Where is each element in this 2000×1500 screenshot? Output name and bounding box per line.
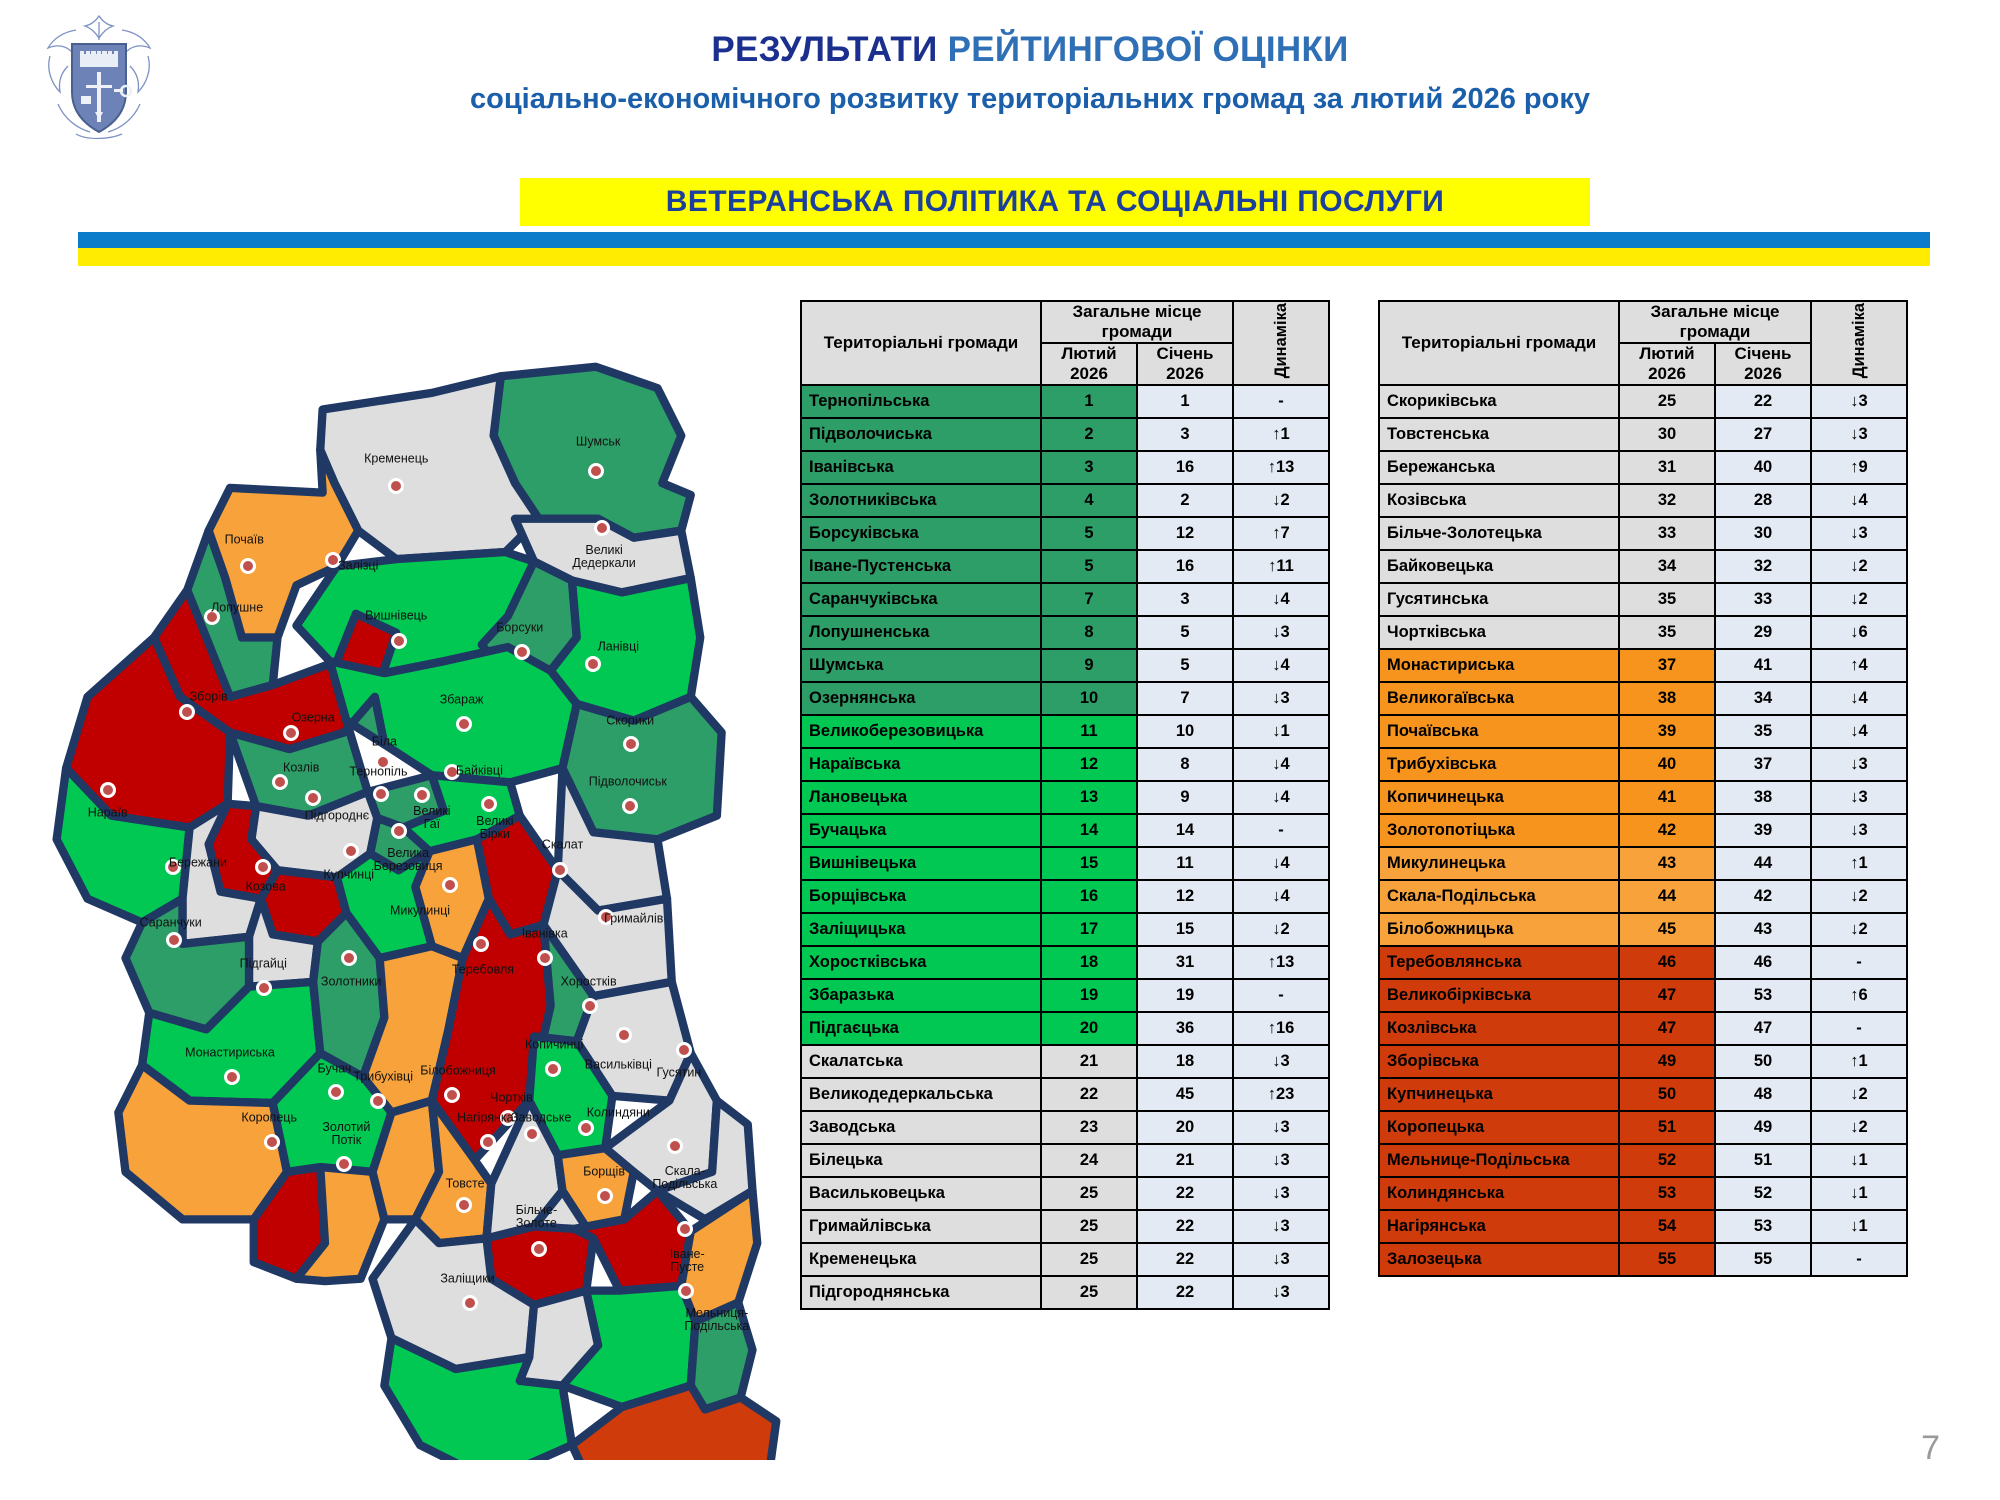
community-name: Микулинецька — [1379, 847, 1619, 880]
city-marker-dot — [264, 1134, 280, 1150]
rank-dynamics: ↓4 — [1811, 682, 1907, 715]
rank-dynamics: ↑1 — [1811, 1045, 1907, 1078]
rank-february: 53 — [1619, 1177, 1715, 1210]
city-marker-dot — [283, 725, 299, 741]
city-marker-dot — [524, 1126, 540, 1142]
rank-dynamics: ↓3 — [1233, 1276, 1329, 1309]
table-row: Заводська2320↓3 — [801, 1111, 1329, 1144]
community-name: Іванівська — [801, 451, 1041, 484]
table-row: Кременецька2522↓3 — [801, 1243, 1329, 1276]
page-number: 7 — [1921, 1429, 1940, 1468]
table-row: Васильковецька2522↓3 — [801, 1177, 1329, 1210]
rank-dynamics: ↓3 — [1233, 1144, 1329, 1177]
header-communities: Територіальні громади — [1379, 301, 1619, 385]
community-name: Мельнице-Подільська — [1379, 1144, 1619, 1177]
rank-february: 1 — [1041, 385, 1137, 418]
rank-january: 47 — [1715, 1012, 1811, 1045]
city-marker-dot — [373, 786, 389, 802]
table-row: Підгаєцька2036↑16 — [801, 1012, 1329, 1045]
city-marker-dot — [514, 644, 530, 660]
community-name: Копичинецька — [1379, 781, 1619, 814]
header-february: Лютий2026 — [1619, 343, 1715, 385]
community-name: Байковецька — [1379, 550, 1619, 583]
city-marker-dot — [444, 1087, 460, 1103]
rank-february: 22 — [1041, 1078, 1137, 1111]
rank-january: 49 — [1715, 1111, 1811, 1144]
rank-february: 41 — [1619, 781, 1715, 814]
rank-february: 24 — [1041, 1144, 1137, 1177]
city-marker-dot — [456, 1197, 472, 1213]
rank-february: 47 — [1619, 979, 1715, 1012]
city-marker-dot — [578, 1120, 594, 1136]
city-marker-dot — [622, 798, 638, 814]
rank-february: 49 — [1619, 1045, 1715, 1078]
community-name: Борсуківська — [801, 517, 1041, 550]
community-name: Монастириська — [1379, 649, 1619, 682]
city-marker-dot — [370, 1093, 386, 1109]
rank-january: 16 — [1137, 550, 1233, 583]
community-name: Заліщицька — [801, 913, 1041, 946]
community-name: Лопушненська — [801, 616, 1041, 649]
community-name: Підгороднянська — [801, 1276, 1041, 1309]
header-overall-place: Загальне місце громади — [1619, 301, 1811, 343]
rank-february: 43 — [1619, 847, 1715, 880]
rank-dynamics: ↓3 — [1233, 1045, 1329, 1078]
table-row: Золотопотіцька4239↓3 — [1379, 814, 1907, 847]
rank-february: 5 — [1041, 517, 1137, 550]
rank-january: 32 — [1715, 550, 1811, 583]
community-name: Купчинецька — [1379, 1078, 1619, 1111]
rank-dynamics: - — [1233, 385, 1329, 418]
rank-january: 22 — [1137, 1177, 1233, 1210]
city-marker-dot — [179, 704, 195, 720]
rank-dynamics: ↓4 — [1233, 649, 1329, 682]
rank-dynamics: ↓2 — [1811, 583, 1907, 616]
rank-february: 25 — [1619, 385, 1715, 418]
table-row: Товстенська3027↓3 — [1379, 418, 1907, 451]
community-name: Великобірківська — [1379, 979, 1619, 1012]
rank-february: 20 — [1041, 1012, 1137, 1045]
community-name: Бережанська — [1379, 451, 1619, 484]
table-row: Підволочиська23↑1 — [801, 418, 1329, 451]
table-row: Нараївська128↓4 — [801, 748, 1329, 781]
city-marker-dot — [375, 754, 391, 770]
rank-january: 36 — [1137, 1012, 1233, 1045]
table-row: Микулинецька4344↑1 — [1379, 847, 1907, 880]
rank-january: 53 — [1715, 979, 1811, 1012]
table-row: Білобожницька4543↓2 — [1379, 913, 1907, 946]
community-name: Саранчуківська — [801, 583, 1041, 616]
city-marker-dot — [305, 790, 321, 806]
community-name: Тернопільська — [801, 385, 1041, 418]
city-marker-dot — [667, 1138, 683, 1154]
city-marker-dot — [341, 950, 357, 966]
rank-dynamics: ↓3 — [1233, 616, 1329, 649]
rank-february: 2 — [1041, 418, 1137, 451]
rank-january: 30 — [1715, 517, 1811, 550]
rank-dynamics: ↑1 — [1811, 847, 1907, 880]
city-marker-dot — [256, 980, 272, 996]
rank-dynamics: ↓3 — [1233, 1111, 1329, 1144]
table-row: Тернопільська11- — [801, 385, 1329, 418]
rank-january: 53 — [1715, 1210, 1811, 1243]
city-marker-dot — [444, 764, 460, 780]
rank-february: 8 — [1041, 616, 1137, 649]
table-row: Коропецька5149↓2 — [1379, 1111, 1907, 1144]
rank-february: 31 — [1619, 451, 1715, 484]
rank-january: 48 — [1715, 1078, 1811, 1111]
rank-february: 4 — [1041, 484, 1137, 517]
rank-january: 52 — [1715, 1177, 1811, 1210]
table-row: Шумська95↓4 — [801, 649, 1329, 682]
rank-january: 41 — [1715, 649, 1811, 682]
coat-of-arms-icon — [36, 12, 162, 144]
table-row: Саранчуківська73↓4 — [801, 583, 1329, 616]
table-row: Залозецька5555- — [1379, 1243, 1907, 1276]
rank-dynamics: ↓3 — [1233, 1210, 1329, 1243]
rank-dynamics: ↓2 — [1811, 1111, 1907, 1144]
rank-dynamics: ↓2 — [1811, 550, 1907, 583]
page-title: РЕЗУЛЬТАТИ РЕЙТИНГОВОЇ ОЦІНКИ соціально-… — [330, 30, 1730, 117]
community-name: Великоберезовицька — [801, 715, 1041, 748]
ternopil-oblast-map[interactable]: ШумськКременецьВеликі ДедеркалиПочаївЛоп… — [40, 290, 800, 1460]
rank-february: 14 — [1041, 814, 1137, 847]
table-row: Озернянська107↓3 — [801, 682, 1329, 715]
city-marker-dot — [456, 716, 472, 732]
community-name: Колиндянська — [1379, 1177, 1619, 1210]
rank-dynamics: ↓3 — [1233, 1177, 1329, 1210]
city-marker-dot — [343, 843, 359, 859]
rank-february: 45 — [1619, 913, 1715, 946]
header-communities: Територіальні громади — [801, 301, 1041, 385]
title-word-results: РЕЗУЛЬТАТИ — [711, 30, 937, 69]
rank-february: 51 — [1619, 1111, 1715, 1144]
rank-january: 46 — [1715, 946, 1811, 979]
community-name: Шумська — [801, 649, 1041, 682]
table-row: Скориківська2522↓3 — [1379, 385, 1907, 418]
rank-february: 54 — [1619, 1210, 1715, 1243]
table-row: Зборівська4950↑1 — [1379, 1045, 1907, 1078]
rank-february: 11 — [1041, 715, 1137, 748]
city-marker-dot — [500, 1110, 516, 1126]
flag-stripe-blue — [78, 232, 1930, 248]
table-row: Вишнівецька1511↓4 — [801, 847, 1329, 880]
community-name: Залозецька — [1379, 1243, 1619, 1276]
community-name: Великодедеркальська — [801, 1078, 1041, 1111]
community-name: Підволочиська — [801, 418, 1041, 451]
rank-january: 45 — [1137, 1078, 1233, 1111]
community-name: Підгаєцька — [801, 1012, 1041, 1045]
city-marker-dot — [582, 998, 598, 1014]
rank-february: 7 — [1041, 583, 1137, 616]
rank-dynamics: ↓1 — [1233, 715, 1329, 748]
rank-dynamics: - — [1811, 1012, 1907, 1045]
rank-dynamics: ↑16 — [1233, 1012, 1329, 1045]
rank-february: 38 — [1619, 682, 1715, 715]
community-name: Великогаївська — [1379, 682, 1619, 715]
rank-february: 12 — [1041, 748, 1137, 781]
table-row: Борщівська1612↓4 — [801, 880, 1329, 913]
rank-february: 23 — [1041, 1111, 1137, 1144]
rank-january: 51 — [1715, 1144, 1811, 1177]
community-name: Озернянська — [801, 682, 1041, 715]
rank-january: 18 — [1137, 1045, 1233, 1078]
rank-dynamics: ↑13 — [1233, 451, 1329, 484]
rank-january: 11 — [1137, 847, 1233, 880]
table-row: Великогаївська3834↓4 — [1379, 682, 1907, 715]
rank-dynamics: ↓3 — [1811, 781, 1907, 814]
rank-january: 19 — [1137, 979, 1233, 1012]
rank-february: 16 — [1041, 880, 1137, 913]
rank-dynamics: ↓2 — [1811, 913, 1907, 946]
rank-february: 50 — [1619, 1078, 1715, 1111]
rank-january: 3 — [1137, 418, 1233, 451]
rank-february: 47 — [1619, 1012, 1715, 1045]
community-name: Зборівська — [1379, 1045, 1619, 1078]
rank-february: 32 — [1619, 484, 1715, 517]
rank-january: 38 — [1715, 781, 1811, 814]
table-row: Золотниківська42↓2 — [801, 484, 1329, 517]
rank-january: 29 — [1715, 616, 1811, 649]
ranking-table-right: Територіальні громади Загальне місце гро… — [1378, 300, 1908, 1277]
rank-january: 16 — [1137, 451, 1233, 484]
rank-dynamics: ↓4 — [1233, 583, 1329, 616]
community-name: Гусятинська — [1379, 583, 1619, 616]
table-row: Чортківська3529↓6 — [1379, 616, 1907, 649]
city-marker-dot — [585, 656, 601, 672]
rank-february: 3 — [1041, 451, 1137, 484]
rank-dynamics: ↓3 — [1811, 517, 1907, 550]
rank-january: 34 — [1715, 682, 1811, 715]
rank-dynamics: ↑4 — [1811, 649, 1907, 682]
city-marker-dot — [100, 782, 116, 798]
table-row: Скалатська2118↓3 — [801, 1045, 1329, 1078]
rank-january: 40 — [1715, 451, 1811, 484]
rank-february: 9 — [1041, 649, 1137, 682]
rank-dynamics: ↓4 — [1233, 847, 1329, 880]
community-name: Бучацька — [801, 814, 1041, 847]
rank-february: 13 — [1041, 781, 1137, 814]
rank-dynamics: - — [1233, 814, 1329, 847]
table-row: Гримайлівська2522↓3 — [801, 1210, 1329, 1243]
community-name: Чортківська — [1379, 616, 1619, 649]
rank-february: 33 — [1619, 517, 1715, 550]
table-row: Лопушненська85↓3 — [801, 616, 1329, 649]
table-row: Великодедеркальська2245↑23 — [801, 1078, 1329, 1111]
city-marker-dot — [677, 1221, 693, 1237]
city-marker-dot — [537, 950, 553, 966]
table-row: Почаївська3935↓4 — [1379, 715, 1907, 748]
city-marker-dot — [165, 859, 181, 875]
header-dynamics: Динаміка — [1811, 301, 1907, 385]
rank-january: 55 — [1715, 1243, 1811, 1276]
city-marker-dot — [240, 558, 256, 574]
city-marker-dot — [676, 1042, 692, 1058]
header-overall-place: Загальне місце громади — [1041, 301, 1233, 343]
table-row: Бучацька1414- — [801, 814, 1329, 847]
city-marker-dot — [481, 796, 497, 812]
community-name: Золотопотіцька — [1379, 814, 1619, 847]
rank-february: 40 — [1619, 748, 1715, 781]
rank-dynamics: ↓4 — [1233, 781, 1329, 814]
rank-dynamics: ↓4 — [1811, 484, 1907, 517]
rank-january: 33 — [1715, 583, 1811, 616]
table-row: Копичинецька4138↓3 — [1379, 781, 1907, 814]
community-name: Козлівська — [1379, 1012, 1619, 1045]
rank-dynamics: - — [1811, 1243, 1907, 1276]
rank-january: 39 — [1715, 814, 1811, 847]
table-row: Білецька2421↓3 — [801, 1144, 1329, 1177]
city-marker-dot — [598, 909, 614, 925]
rank-january: 44 — [1715, 847, 1811, 880]
table-row: Хоростківська1831↑13 — [801, 946, 1329, 979]
community-name: Козівська — [1379, 484, 1619, 517]
table-header-row: Територіальні громади Загальне місце гро… — [1379, 301, 1907, 343]
rank-february: 25 — [1041, 1210, 1137, 1243]
rank-dynamics: ↓3 — [1811, 748, 1907, 781]
section-banner-label: ВЕТЕРАНСЬКА ПОЛІТИКА ТА СОЦІАЛЬНІ ПОСЛУГ… — [666, 185, 1444, 219]
city-marker-dot — [678, 1283, 694, 1299]
rank-dynamics: ↑11 — [1233, 550, 1329, 583]
rank-january: 5 — [1137, 649, 1233, 682]
rank-january: 20 — [1137, 1111, 1233, 1144]
table-row: Скала-Подільська4442↓2 — [1379, 880, 1907, 913]
rank-february: 18 — [1041, 946, 1137, 979]
rank-dynamics: ↑7 — [1233, 517, 1329, 550]
city-marker-dot — [255, 859, 271, 875]
rank-dynamics: ↓3 — [1811, 385, 1907, 418]
community-name: Теребовлянська — [1379, 946, 1619, 979]
community-name: Коропецька — [1379, 1111, 1619, 1144]
rank-january: 12 — [1137, 517, 1233, 550]
city-marker-dot — [272, 774, 288, 790]
rank-january: 1 — [1137, 385, 1233, 418]
community-name: Товстенська — [1379, 418, 1619, 451]
rank-february: 30 — [1619, 418, 1715, 451]
rank-january: 22 — [1137, 1210, 1233, 1243]
community-name: Нагірянська — [1379, 1210, 1619, 1243]
section-banner: ВЕТЕРАНСЬКА ПОЛІТИКА ТА СОЦІАЛЬНІ ПОСЛУГ… — [520, 178, 1590, 226]
rank-january: 28 — [1715, 484, 1811, 517]
city-marker-dot — [616, 1027, 632, 1043]
rank-dynamics: ↑13 — [1233, 946, 1329, 979]
rank-january: 22 — [1137, 1276, 1233, 1309]
city-marker-dot — [166, 932, 182, 948]
rank-dynamics: ↓3 — [1811, 418, 1907, 451]
rank-february: 15 — [1041, 847, 1137, 880]
title-word-rating: РЕЙТИНГОВОЇ ОЦІНКИ — [948, 30, 1349, 69]
rank-january: 27 — [1715, 418, 1811, 451]
community-name: Лановецька — [801, 781, 1041, 814]
table-row: Теребовлянська4646- — [1379, 946, 1907, 979]
rank-dynamics: ↓1 — [1811, 1177, 1907, 1210]
rank-january: 22 — [1137, 1243, 1233, 1276]
header-dynamics: Динаміка — [1233, 301, 1329, 385]
table-row: Збаразька1919- — [801, 979, 1329, 1012]
community-name: Скориківська — [1379, 385, 1619, 418]
city-marker-dot — [545, 1061, 561, 1077]
city-marker-dot — [388, 478, 404, 494]
rank-dynamics: ↓3 — [1233, 682, 1329, 715]
community-name: Збаразька — [801, 979, 1041, 1012]
table-row: Козівська3228↓4 — [1379, 484, 1907, 517]
rank-february: 10 — [1041, 682, 1137, 715]
community-name: Скала-Подільська — [1379, 880, 1619, 913]
rank-january: 35 — [1715, 715, 1811, 748]
rank-dynamics: ↓4 — [1811, 715, 1907, 748]
rank-dynamics: - — [1233, 979, 1329, 1012]
rank-dynamics: ↑1 — [1233, 418, 1329, 451]
community-name: Васильковецька — [801, 1177, 1041, 1210]
rank-dynamics: ↓3 — [1233, 1243, 1329, 1276]
rank-january: 31 — [1137, 946, 1233, 979]
table-row: Купчинецька5048↓2 — [1379, 1078, 1907, 1111]
rank-dynamics: ↑23 — [1233, 1078, 1329, 1111]
table-row: Гусятинська3533↓2 — [1379, 583, 1907, 616]
city-marker-dot — [328, 1084, 344, 1100]
ranking-table-left: Територіальні громади Загальне місце гро… — [800, 300, 1330, 1310]
table-row: Козлівська4747- — [1379, 1012, 1907, 1045]
city-marker-dot — [442, 877, 458, 893]
city-marker-dot — [552, 862, 568, 878]
rank-february: 42 — [1619, 814, 1715, 847]
city-marker-dot — [623, 736, 639, 752]
rank-february: 44 — [1619, 880, 1715, 913]
header-february: Лютий2026 — [1041, 343, 1137, 385]
rank-february: 17 — [1041, 913, 1137, 946]
table-row: Колиндянська5352↓1 — [1379, 1177, 1907, 1210]
table-row: Більче-Золотецька3330↓3 — [1379, 517, 1907, 550]
community-name: Трибухівська — [1379, 748, 1619, 781]
city-marker-dot — [462, 1295, 478, 1311]
rank-february: 25 — [1041, 1177, 1137, 1210]
rank-dynamics: ↑6 — [1811, 979, 1907, 1012]
rank-february: 52 — [1619, 1144, 1715, 1177]
community-name: Кременецька — [801, 1243, 1041, 1276]
table-header-row: Територіальні громади Загальне місце гро… — [801, 301, 1329, 343]
rank-january: 5 — [1137, 616, 1233, 649]
rank-dynamics: ↓2 — [1233, 913, 1329, 946]
city-marker-dot — [224, 1069, 240, 1085]
rank-january: 42 — [1715, 880, 1811, 913]
table-row: Іванівська316↑13 — [801, 451, 1329, 484]
rank-february: 39 — [1619, 715, 1715, 748]
community-name: Почаївська — [1379, 715, 1619, 748]
rank-dynamics: - — [1811, 946, 1907, 979]
rank-january: 37 — [1715, 748, 1811, 781]
rank-dynamics: ↓1 — [1811, 1210, 1907, 1243]
rank-dynamics: ↓4 — [1233, 748, 1329, 781]
rank-february: 46 — [1619, 946, 1715, 979]
city-marker-dot — [480, 1134, 496, 1150]
rank-dynamics: ↓3 — [1811, 814, 1907, 847]
rank-dynamics: ↓2 — [1811, 1078, 1907, 1111]
table-row: Заліщицька1715↓2 — [801, 913, 1329, 946]
community-name: Заводська — [801, 1111, 1041, 1144]
community-name: Більче-Золотецька — [1379, 517, 1619, 550]
rank-february: 37 — [1619, 649, 1715, 682]
table-row: Лановецька139↓4 — [801, 781, 1329, 814]
community-name: Білецька — [801, 1144, 1041, 1177]
community-name: Гримайлівська — [801, 1210, 1041, 1243]
rank-february: 55 — [1619, 1243, 1715, 1276]
rank-february: 35 — [1619, 616, 1715, 649]
community-name: Хоростківська — [801, 946, 1041, 979]
rank-january: 22 — [1715, 385, 1811, 418]
city-marker-dot — [204, 609, 220, 625]
rank-dynamics: ↓2 — [1233, 484, 1329, 517]
rank-january: 50 — [1715, 1045, 1811, 1078]
